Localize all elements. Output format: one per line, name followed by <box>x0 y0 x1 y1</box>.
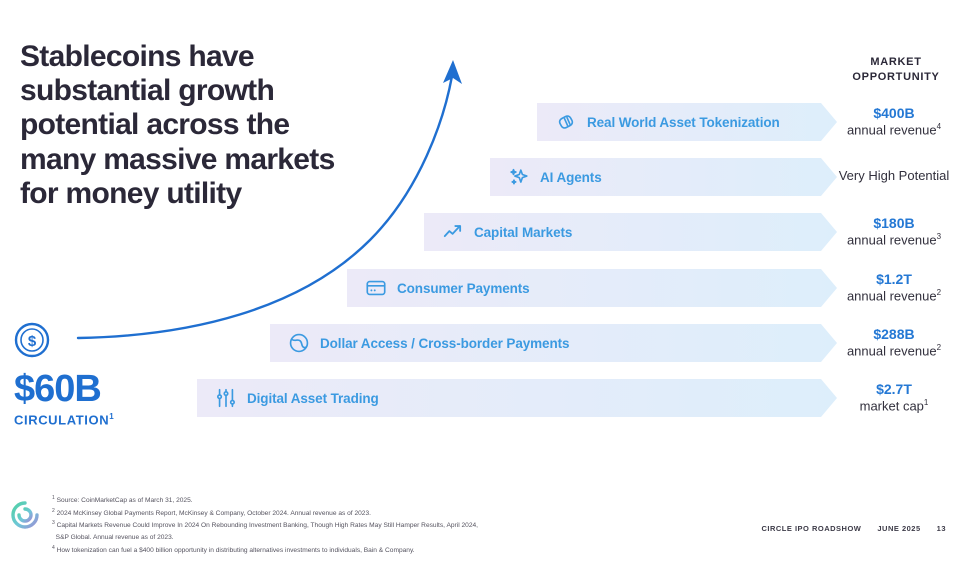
opportunity-bar[interactable]: Digital Asset Trading <box>197 379 837 417</box>
footnote: 1 Source: CoinMarketCap as of March 31, … <box>52 494 612 507</box>
value-caption-text: annual revenue <box>847 123 937 138</box>
circle-logo-icon <box>10 500 40 530</box>
value-caption-text: annual revenue <box>847 344 937 359</box>
circulation-block: $ $60B CIRCULATION1 <box>14 322 194 427</box>
svg-text:$: $ <box>28 333 37 350</box>
sparkle-ai-icon <box>508 166 530 188</box>
market-opportunity-value: $180Bannual revenue3 <box>828 214 960 249</box>
credit-card-icon <box>365 277 387 299</box>
footnote: 3 Capital Markets Revenue Could Improve … <box>52 519 612 543</box>
value-caption: annual revenue2 <box>828 288 960 305</box>
value-caption-text: market cap <box>860 399 924 414</box>
footnotes-block: 1 Source: CoinMarketCap as of March 31, … <box>52 494 612 556</box>
value-caption-text: annual revenue <box>847 289 937 304</box>
value-caption: annual revenue4 <box>828 122 960 139</box>
circulation-footnote-marker: 1 <box>109 412 114 421</box>
value-amount: $1.2T <box>828 270 960 288</box>
footnote-marker: 4 <box>52 545 55 551</box>
market-opportunity-header: MARKET OPPORTUNITY <box>832 55 960 85</box>
footnote: 4 How tokenization can fuel a $400 billi… <box>52 544 612 557</box>
opportunity-bar[interactable]: AI Agents <box>490 158 837 196</box>
sliders-icon <box>215 387 237 409</box>
globe-icon <box>288 332 310 354</box>
value-text: Very High Potential <box>828 168 960 185</box>
opportunity-bar-label: Digital Asset Trading <box>247 391 379 406</box>
market-opportunity-value: $2.7Tmarket cap1 <box>828 380 960 415</box>
opportunity-bar[interactable]: Dollar Access / Cross-border Payments <box>270 324 837 362</box>
footer-page-number: 13 <box>937 524 946 533</box>
opportunity-bar-label: AI Agents <box>540 170 602 185</box>
value-amount: $288B <box>828 325 960 343</box>
market-opportunity-value: $400Bannual revenue4 <box>828 104 960 139</box>
opportunity-bar[interactable]: Capital Markets <box>424 213 837 251</box>
footnote: 2 2024 McKinsey Global Payments Report, … <box>52 507 612 520</box>
footer-deck-name: CIRCLE IPO ROADSHOW <box>761 524 861 533</box>
footnote-text: Source: CoinMarketCap as of March 31, 20… <box>57 497 193 504</box>
value-amount: $400B <box>828 104 960 122</box>
market-header-line2: OPPORTUNITY <box>832 70 960 85</box>
value-footnote-marker: 3 <box>937 232 941 241</box>
circulation-amount: $60B <box>14 370 194 408</box>
value-footnote-marker: 2 <box>937 288 941 297</box>
footer-date: JUNE 2025 <box>877 524 920 533</box>
value-footnote-marker: 2 <box>937 343 941 352</box>
footnote-text: Capital Markets Revenue Could Improve In… <box>52 523 478 542</box>
value-caption: annual revenue2 <box>828 343 960 360</box>
value-caption: market cap1 <box>828 398 960 415</box>
market-header-line1: MARKET <box>832 55 960 70</box>
value-caption-text: annual revenue <box>847 233 937 248</box>
token-asset-icon <box>555 111 577 133</box>
market-opportunity-value: $1.2Tannual revenue2 <box>828 270 960 305</box>
page-title: Stablecoins have substantial growth pote… <box>20 40 350 211</box>
slide-footer: CIRCLE IPO ROADSHOW JUNE 2025 13 <box>761 524 946 533</box>
opportunity-bar-label: Capital Markets <box>474 225 572 240</box>
value-amount: $180B <box>828 214 960 232</box>
opportunity-bar-label: Real World Asset Tokenization <box>587 115 780 130</box>
value-footnote-marker: 1 <box>924 398 928 407</box>
circulation-label: CIRCULATION1 <box>14 412 194 427</box>
footnote-text: How tokenization can fuel a $400 billion… <box>57 547 415 554</box>
footnote-marker: 2 <box>52 508 55 514</box>
footnote-marker: 1 <box>52 495 55 501</box>
usdc-coin-icon: $ <box>14 322 50 358</box>
value-amount: $2.7T <box>828 380 960 398</box>
opportunity-bar-label: Dollar Access / Cross-border Payments <box>320 336 569 351</box>
market-opportunity-value: Very High Potential <box>828 168 960 185</box>
footnote-marker: 3 <box>52 520 55 526</box>
trending-up-icon <box>442 221 464 243</box>
market-opportunity-value: $288Bannual revenue2 <box>828 325 960 360</box>
value-caption: annual revenue3 <box>828 232 960 249</box>
opportunity-bar-label: Consumer Payments <box>397 281 530 296</box>
footnote-text: 2024 McKinsey Global Payments Report, Mc… <box>57 510 371 517</box>
circulation-label-text: CIRCULATION <box>14 412 109 427</box>
opportunity-bar[interactable]: Real World Asset Tokenization <box>537 103 837 141</box>
value-footnote-marker: 4 <box>937 122 941 131</box>
opportunity-bar[interactable]: Consumer Payments <box>347 269 837 307</box>
